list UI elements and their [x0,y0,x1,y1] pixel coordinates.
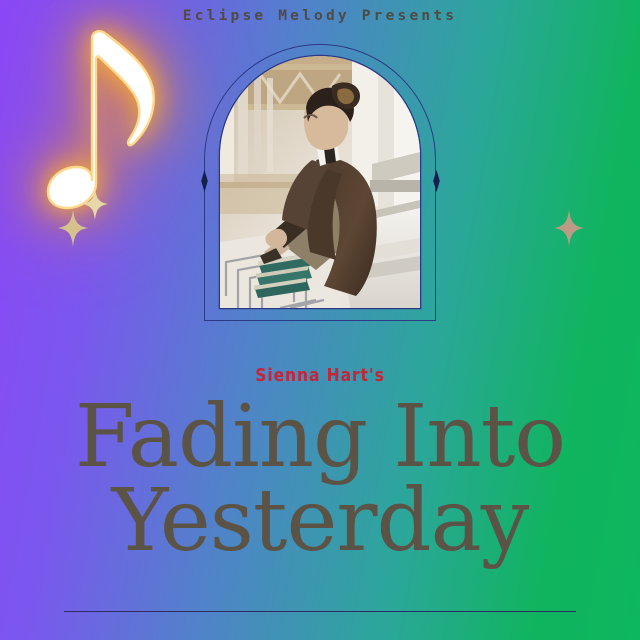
artist-name: Sienna Hart's [45,365,595,386]
music-note-icon [26,22,196,222]
cover-photo [220,56,420,308]
song-title-line-1: Fading Into [0,398,640,478]
song-title-line-2: Yesterday [0,482,640,562]
bottom-divider [64,611,576,612]
album-cover-poster: Eclipse Melody Presents [0,0,640,640]
music-note-decoration [26,22,196,222]
sparkle-icon [554,209,584,247]
